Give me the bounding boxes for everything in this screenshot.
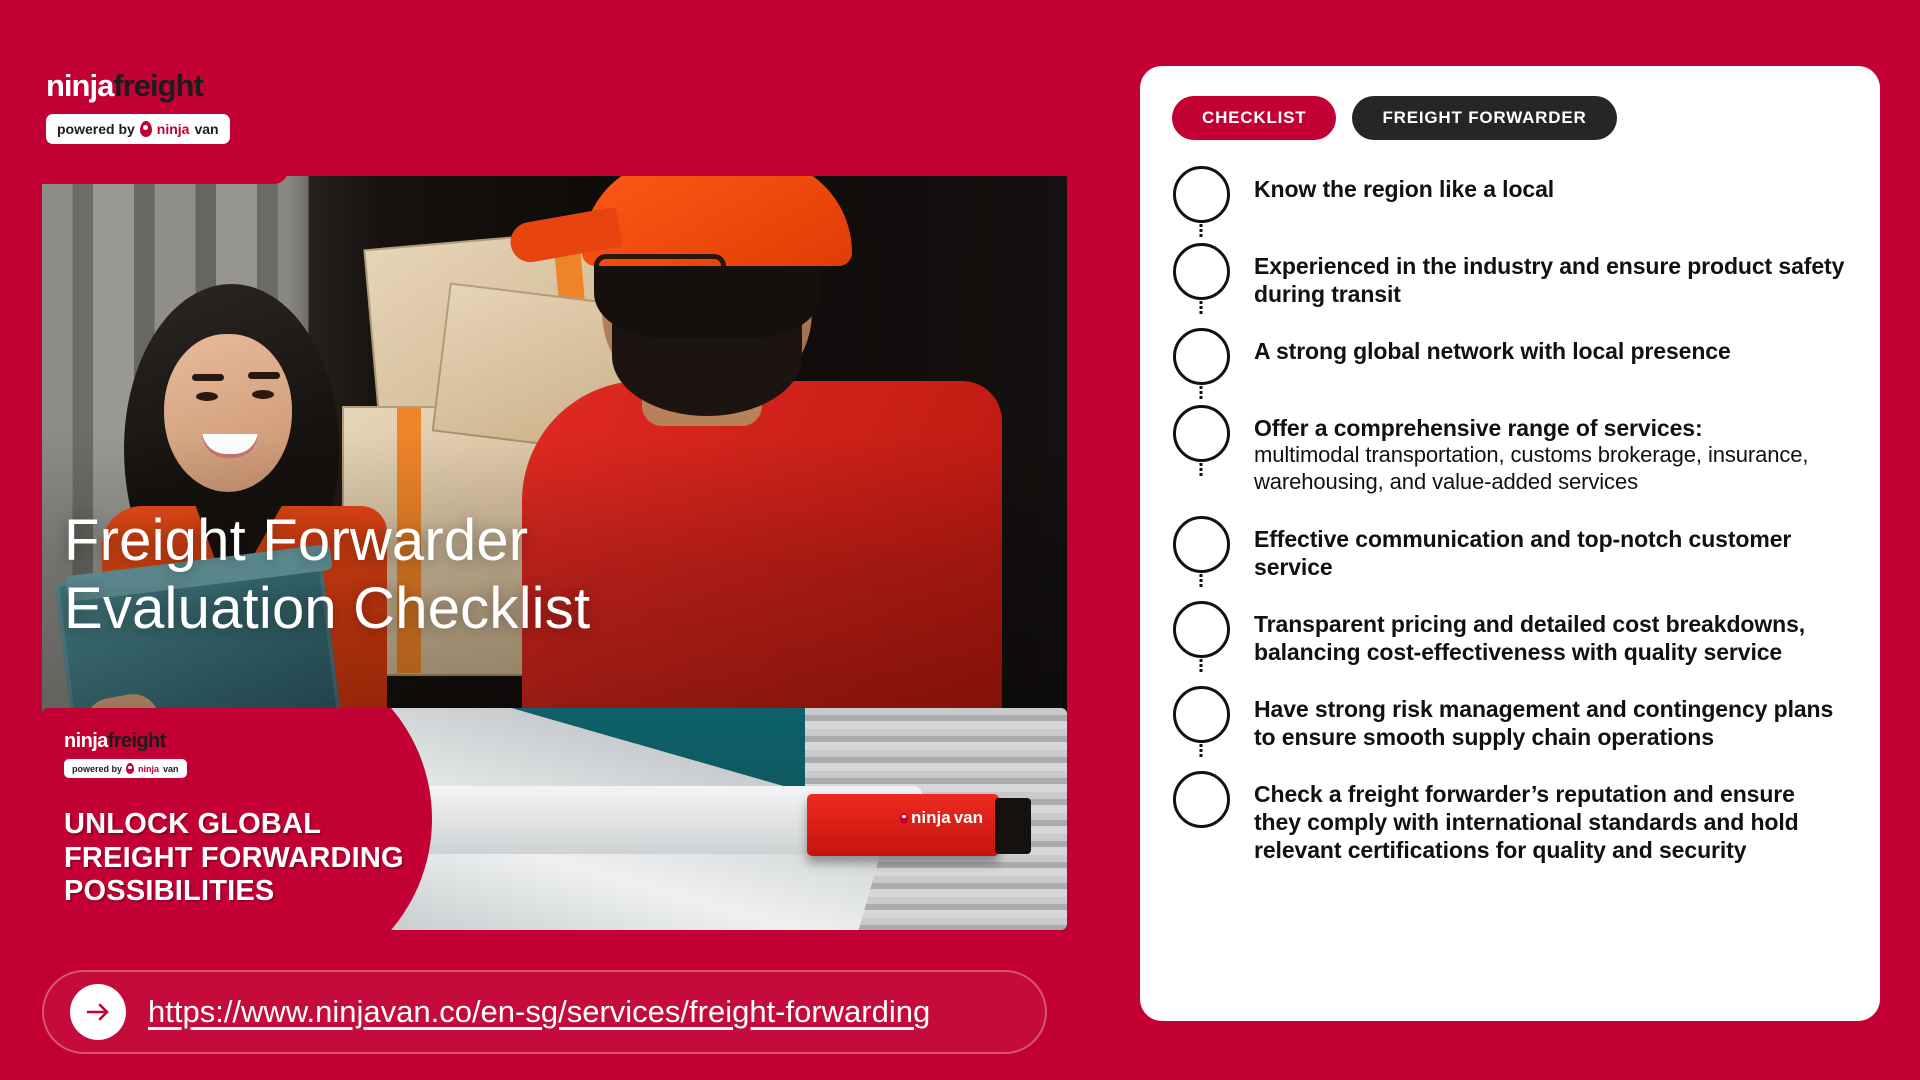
checkbox-circle-icon[interactable]	[1173, 405, 1230, 462]
promo-powered-by-pill: powered by ninjavan	[64, 759, 187, 778]
checklist-item-title: Offer a comprehensive range of services:	[1254, 414, 1846, 442]
promo-truck-cab	[995, 798, 1031, 854]
checkbox-circle-icon[interactable]	[1173, 243, 1230, 300]
ninjafreight-wordmark: ninjafreight	[46, 68, 272, 104]
promo-logo-ninja-text: ninja	[64, 730, 108, 752]
checkbox-circle-icon[interactable]	[1173, 328, 1230, 385]
dotted-connector	[1200, 386, 1203, 399]
checklist-bullet-wrap	[1172, 516, 1230, 573]
checklist-item[interactable]: Check a freight forwarder’s reputation a…	[1172, 771, 1846, 884]
checklist-bullet-wrap	[1172, 601, 1230, 658]
checklist-item-title: Transparent pricing and detailed cost br…	[1254, 610, 1846, 666]
hero-photo: Freight Forwarder Evaluation Checklist	[42, 176, 1067, 714]
checklist-bullet-wrap	[1172, 243, 1230, 300]
promo-ninjafreight-wordmark: ninjafreight	[64, 730, 424, 753]
checklist-bullet-wrap	[1172, 771, 1230, 828]
dotted-connector	[1200, 744, 1203, 757]
promo-text-block: ninjafreight powered by ninjavan UNLOCK …	[64, 730, 424, 909]
checklist-items: Know the region like a local Experienced…	[1172, 166, 1846, 884]
promo-headline-line-1: UNLOCK GLOBAL	[64, 808, 424, 842]
checklist-item-subtitle: multimodal transportation, customs broke…	[1254, 442, 1846, 496]
checklist-item[interactable]: A strong global network with local prese…	[1172, 328, 1846, 405]
promo-banner: ninjavan ninjafreight powered by ninjava…	[42, 708, 1067, 930]
promo-logo-freight-text: freight	[108, 730, 166, 752]
truck-label-ninja: ninja	[911, 808, 951, 828]
checklist-item-text: A strong global network with local prese…	[1254, 328, 1731, 365]
dotted-connector	[1200, 301, 1203, 314]
promo-headline-line-3: POSSIBILITIES	[64, 875, 424, 909]
checklist-item-text: Effective communication and top-notch cu…	[1254, 516, 1846, 581]
ninjavan-van-text: van	[194, 121, 218, 137]
dotted-connector	[1200, 463, 1203, 476]
checklist-item-title: Know the region like a local	[1254, 175, 1554, 203]
promo-headline: UNLOCK GLOBAL FREIGHT FORWARDING POSSIBI…	[64, 808, 424, 909]
checklist-item-text: Offer a comprehensive range of services:…	[1254, 405, 1846, 496]
ninja-pin-icon	[126, 763, 134, 774]
checkbox-circle-icon[interactable]	[1173, 686, 1230, 743]
checklist-item-text: Have strong risk management and continge…	[1254, 686, 1846, 751]
hero-section: Freight Forwarder Evaluation Checklist n…	[42, 54, 1067, 654]
checklist-item-title: Effective communication and top-notch cu…	[1254, 525, 1846, 581]
checkbox-circle-icon[interactable]	[1173, 516, 1230, 573]
checkbox-circle-icon[interactable]	[1173, 166, 1230, 223]
checklist-item-title: Check a freight forwarder’s reputation a…	[1254, 780, 1846, 864]
dotted-connector	[1200, 224, 1203, 237]
powered-by-label: powered by	[57, 121, 135, 137]
checklist-bullet-wrap	[1172, 405, 1230, 462]
checklist-item-text: Experienced in the industry and ensure p…	[1254, 243, 1846, 308]
checkbox-circle-icon[interactable]	[1173, 771, 1230, 828]
truck-label-van: van	[954, 808, 983, 828]
promo-ninjavan-ninja-text: ninja	[138, 764, 159, 774]
dotted-connector	[1200, 574, 1203, 587]
checklist-item-title: A strong global network with local prese…	[1254, 337, 1731, 365]
dotted-connector	[1200, 659, 1203, 672]
ninjavan-ninja-text: ninja	[157, 121, 190, 137]
checklist-bullet-wrap	[1172, 166, 1230, 223]
powered-by-pill: powered by ninjavan	[46, 114, 230, 144]
promo-headline-line-2: FREIGHT FORWARDING	[64, 842, 424, 876]
left-column: Freight Forwarder Evaluation Checklist n…	[42, 54, 1067, 1054]
hero-title-line-2: Evaluation Checklist	[64, 575, 590, 642]
checklist-item[interactable]: Transparent pricing and detailed cost br…	[1172, 601, 1846, 686]
brand-logo-badge: ninjafreight powered by ninjavan	[42, 54, 288, 184]
checklist-item-title: Experienced in the industry and ensure p…	[1254, 252, 1846, 308]
badge-freight-forwarder[interactable]: FREIGHT FORWARDER	[1352, 96, 1616, 140]
checklist-item-title: Have strong risk management and continge…	[1254, 695, 1846, 751]
checklist-item[interactable]: Know the region like a local	[1172, 166, 1846, 243]
ninja-pin-icon	[900, 813, 908, 824]
url-cta-bar[interactable]: https://www.ninjavan.co/en-sg/services/f…	[42, 970, 1047, 1054]
checklist-bullet-wrap	[1172, 686, 1230, 743]
checklist-item-text: Check a freight forwarder’s reputation a…	[1254, 771, 1846, 864]
checklist-bullet-wrap	[1172, 328, 1230, 385]
hero-title: Freight Forwarder Evaluation Checklist	[64, 507, 590, 642]
checklist-item[interactable]: Offer a comprehensive range of services:…	[1172, 405, 1846, 516]
promo-truck-ninjavan-label: ninjavan	[900, 808, 983, 828]
promo-ninjavan-van-text: van	[163, 764, 179, 774]
hero-title-line-1: Freight Forwarder	[64, 507, 590, 574]
promo-powered-by-label: powered by	[72, 764, 122, 774]
logo-freight-text: freight	[113, 68, 202, 103]
checklist-item[interactable]: Have strong risk management and continge…	[1172, 686, 1846, 771]
logo-ninja-text: ninja	[46, 68, 113, 103]
badge-checklist[interactable]: CHECKLIST	[1172, 96, 1336, 140]
ninja-pin-icon	[140, 121, 152, 137]
badge-row: CHECKLIST FREIGHT FORWARDER	[1172, 96, 1846, 140]
checklist-item[interactable]: Effective communication and top-notch cu…	[1172, 516, 1846, 601]
checklist-card: CHECKLIST FREIGHT FORWARDER Know the reg…	[1140, 66, 1880, 1021]
url-link[interactable]: https://www.ninjavan.co/en-sg/services/f…	[148, 994, 930, 1030]
checklist-item-text: Know the region like a local	[1254, 166, 1554, 203]
checklist-item-text: Transparent pricing and detailed cost br…	[1254, 601, 1846, 666]
checkbox-circle-icon[interactable]	[1173, 601, 1230, 658]
arrow-right-icon[interactable]	[70, 984, 126, 1040]
checklist-item[interactable]: Experienced in the industry and ensure p…	[1172, 243, 1846, 328]
